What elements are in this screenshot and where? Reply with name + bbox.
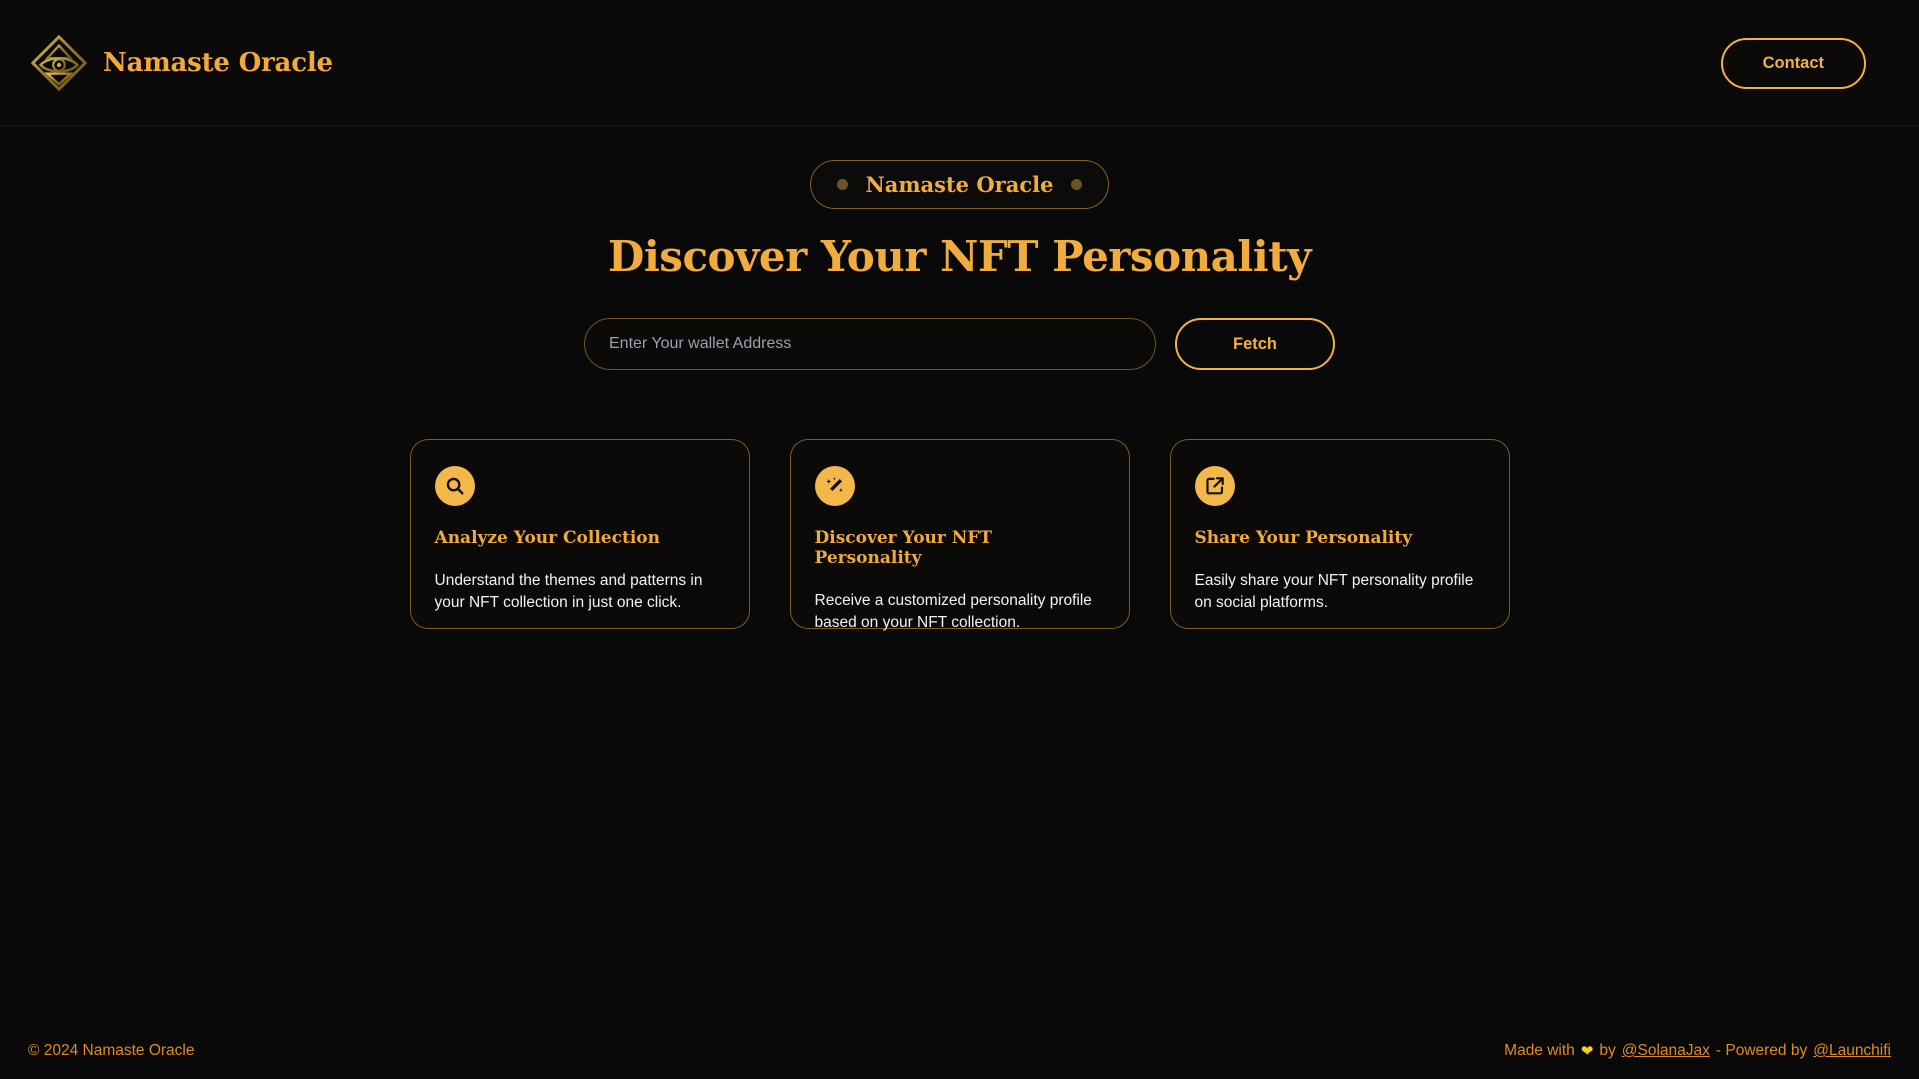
page-title: Discover Your NFT Personality [608, 232, 1311, 281]
hero-badge-label: Namaste Oracle [866, 172, 1054, 197]
card-description: Receive a customized personality profile… [815, 590, 1100, 635]
card-title: Share Your Personality [1195, 528, 1485, 548]
feature-card: Discover Your NFT Personality Receive a … [790, 439, 1130, 629]
footer-copyright: © 2024 Namaste Oracle [28, 1042, 195, 1060]
wallet-address-input[interactable] [584, 318, 1156, 370]
footer-made-with-label: Made with [1504, 1042, 1575, 1060]
contact-button[interactable]: Contact [1721, 38, 1866, 89]
wallet-search-row: Fetch [584, 318, 1335, 370]
share-icon [1195, 466, 1235, 506]
search-icon [435, 466, 475, 506]
footer-separator-label: - Powered by [1716, 1042, 1807, 1060]
badge-dot-right-icon [1071, 179, 1082, 190]
feature-card: Share Your Personality Easily share your… [1170, 439, 1510, 629]
site-header: Namaste Oracle Contact [0, 0, 1919, 126]
site-footer: © 2024 Namaste Oracle Made with ❤ by @So… [0, 1023, 1919, 1079]
footer-credits: Made with ❤ by @SolanaJax - Powered by @… [1504, 1042, 1891, 1060]
feature-cards: Analyze Your Collection Understand the t… [410, 439, 1510, 629]
fetch-button[interactable]: Fetch [1175, 318, 1335, 370]
footer-author-link[interactable]: @SolanaJax [1622, 1042, 1710, 1060]
card-description: Easily share your NFT personality profil… [1195, 570, 1480, 615]
hero-section: Namaste Oracle Discover Your NFT Persona… [0, 126, 1919, 629]
hero-badge: Namaste Oracle [810, 160, 1110, 209]
card-description: Understand the themes and patterns in yo… [435, 570, 720, 615]
card-title: Analyze Your Collection [435, 528, 725, 548]
brand[interactable]: Namaste Oracle [28, 32, 333, 94]
footer-powered-by-link[interactable]: @Launchifi [1813, 1042, 1891, 1060]
brand-name: Namaste Oracle [103, 48, 333, 78]
eye-in-diamond-logo-icon [28, 32, 90, 94]
footer-by-label: by [1599, 1042, 1615, 1060]
badge-dot-left-icon [837, 179, 848, 190]
magic-wand-icon [815, 466, 855, 506]
feature-card: Analyze Your Collection Understand the t… [410, 439, 750, 629]
card-title: Discover Your NFT Personality [815, 528, 1105, 568]
heart-icon: ❤ [1581, 1042, 1594, 1060]
